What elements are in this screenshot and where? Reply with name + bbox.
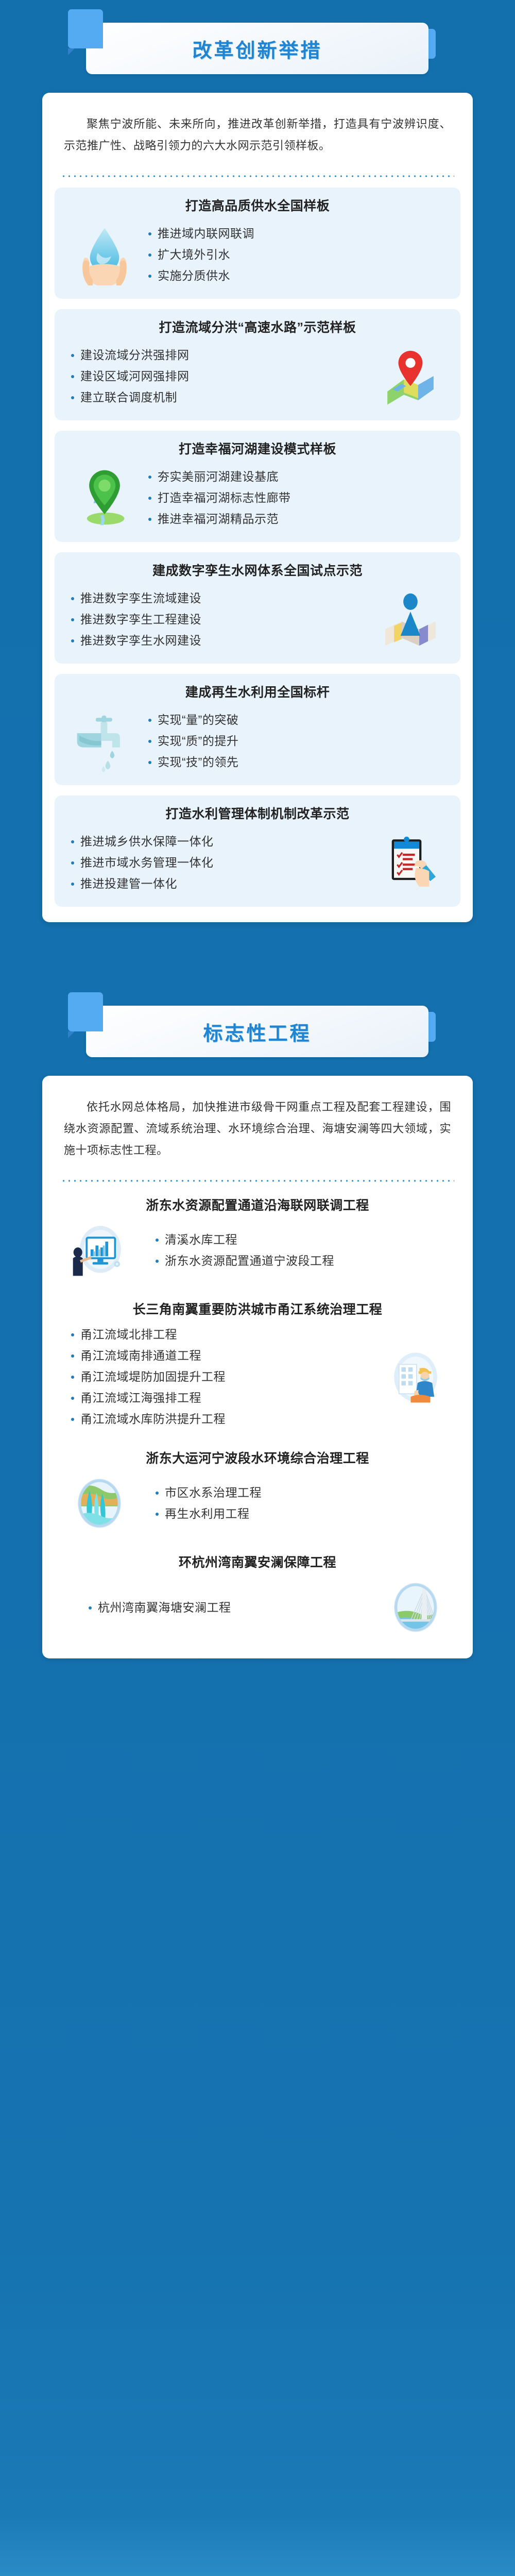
bullet-list: 杭州湾南翼海塘安澜工程 bbox=[66, 1597, 382, 1618]
chart-presenter-icon bbox=[66, 1220, 133, 1281]
bullet-list: 实现“量”的突破 实现“质”的提升 实现“技”的领先 bbox=[143, 709, 449, 773]
card-title: 环杭州湾南翼安澜保障工程 bbox=[66, 1553, 449, 1572]
bullet-item: 甬江流域水库防洪提升工程 bbox=[69, 1409, 379, 1430]
section-title: 改革创新举措 bbox=[192, 35, 322, 63]
card-title: 长三角南翼重要防洪城市甬江系统治理工程 bbox=[66, 1300, 449, 1319]
section-intro: 聚焦宁波所能、未来所向，推进改革创新举措，打造具有宁波辨识度、示范推广性、战略引… bbox=[42, 106, 473, 162]
bullet-item: 实现“质”的提升 bbox=[146, 731, 446, 752]
bullet-item: 实现“量”的突破 bbox=[146, 709, 446, 731]
header-card: 改革创新举措 bbox=[86, 23, 428, 74]
card-title: 建成数字孪生水网体系全国试点示范 bbox=[66, 562, 449, 580]
infographic-page: 改革创新举措 聚焦宁波所能、未来所向，推进改革创新举措，打造具有宁波辨识度、示范… bbox=[0, 0, 515, 2576]
measure-card: 建成再生水利用全国标杆 实现“量” bbox=[55, 674, 460, 785]
section-header-reform: 改革创新举措 bbox=[0, 0, 515, 93]
section-title: 标志性工程 bbox=[203, 1018, 311, 1046]
section-panel-reform: 聚焦宁波所能、未来所向，推进改革创新举措，打造具有宁波辨识度、示范推广性、战略引… bbox=[42, 93, 473, 922]
header-tab-decoration bbox=[68, 9, 103, 48]
bullet-item: 市区水系治理工程 bbox=[153, 1482, 446, 1503]
bullet-item: 甬江流域堤防加固提升工程 bbox=[69, 1366, 379, 1387]
measure-card: 打造幸福河湖建设模式样板 夯实美丽河湖建设基底 打造幸福河湖标志性 bbox=[55, 431, 460, 542]
bullet-item: 甬江流域江海强排工程 bbox=[69, 1387, 379, 1409]
map-pin-green-icon bbox=[66, 464, 143, 532]
bullet-item: 实现“技”的领先 bbox=[146, 752, 446, 773]
bullet-list: 推进数字孪生流域建设 推进数字孪生工程建设 推进数字孪生水网建设 bbox=[66, 588, 372, 651]
section-panel-landmark: 依托水网总体格局，加快推进市级骨干网重点工程及配套工程建设，围绕水资源配置、流域… bbox=[42, 1076, 473, 1658]
bullet-item: 推进城乡供水保障一体化 bbox=[69, 831, 369, 852]
bullet-list: 市区水系治理工程 再生水利用工程 bbox=[133, 1482, 449, 1524]
bullet-item: 推进市域水务管理一体化 bbox=[69, 852, 369, 873]
measure-card: 打造流域分洪“高速水路”示范样板 建设流域分洪强排网 建设区域河网强排网 bbox=[55, 309, 460, 420]
person-map-icon bbox=[372, 585, 449, 653]
bullet-item: 杭州湾南翼海塘安澜工程 bbox=[87, 1597, 379, 1618]
bullet-item: 再生水利用工程 bbox=[153, 1503, 446, 1524]
header-tab-decoration bbox=[68, 992, 103, 1031]
faucet-icon bbox=[66, 707, 143, 775]
bullet-list: 推进域内联网联调 扩大境外引水 实施分质供水 bbox=[143, 223, 449, 286]
card-title: 浙东大运河宁波段水环境综合治理工程 bbox=[66, 1449, 449, 1468]
bullet-item: 甬江流域南排通道工程 bbox=[69, 1345, 379, 1366]
bridge-icon bbox=[382, 1577, 449, 1638]
bullet-list: 推进城乡供水保障一体化 推进市域水务管理一体化 推进投建管一体化 bbox=[66, 831, 372, 894]
bullet-item: 推进幸福河湖精品示范 bbox=[146, 509, 446, 530]
bullet-item: 建设流域分洪强排网 bbox=[69, 345, 369, 366]
section-spacer bbox=[0, 922, 515, 983]
card-title: 打造幸福河湖建设模式样板 bbox=[66, 440, 449, 459]
bullet-item: 推进域内联网联调 bbox=[146, 223, 446, 244]
header-card: 标志性工程 bbox=[86, 1006, 428, 1057]
bullet-item: 推进数字孪生工程建设 bbox=[69, 609, 369, 630]
map-pin-red-icon bbox=[372, 342, 449, 410]
bullet-item: 建立联合调度机制 bbox=[69, 387, 369, 408]
card-title: 打造流域分洪“高速水路”示范样板 bbox=[66, 318, 449, 337]
engineer-building-icon bbox=[382, 1347, 449, 1408]
bullet-list: 建设流域分洪强排网 建设区域河网强排网 建立联合调度机制 bbox=[66, 345, 372, 408]
bullet-item: 清溪水库工程 bbox=[153, 1229, 446, 1250]
hand-water-drop-icon bbox=[66, 221, 143, 289]
bullet-item: 实施分质供水 bbox=[146, 265, 446, 286]
measure-card: 打造高品质供水全国样板 推进域内联网联调 扩大境外引水 bbox=[55, 188, 460, 299]
bullet-item: 甬江流域北排工程 bbox=[69, 1324, 379, 1345]
measure-card: 建成数字孪生水网体系全国试点示范 推进数字孪生流域建设 推进数字孪 bbox=[55, 552, 460, 664]
card-title: 打造水利管理体制机制改革示范 bbox=[66, 805, 449, 823]
dotted-divider bbox=[61, 175, 454, 177]
bullet-item: 建设区域河网强排网 bbox=[69, 366, 369, 387]
bullet-item: 推进数字孪生水网建设 bbox=[69, 630, 369, 651]
bullet-item: 浙东水资源配置通道宁波段工程 bbox=[153, 1250, 446, 1272]
project-card: 环杭州湾南翼安澜保障工程 bbox=[55, 1550, 460, 1643]
clipboard-check-icon bbox=[372, 828, 449, 896]
bullet-list: 甬江流域北排工程 甬江流域南排通道工程 甬江流域堤防加固提升工程 甬江流域江海强… bbox=[66, 1324, 382, 1430]
section-header-landmark: 标志性工程 bbox=[0, 983, 515, 1076]
bullet-item: 扩大境外引水 bbox=[146, 244, 446, 265]
bullet-list: 清溪水库工程 浙东水资源配置通道宁波段工程 bbox=[133, 1229, 449, 1272]
measure-card: 打造水利管理体制机制改革示范 bbox=[55, 795, 460, 907]
card-title: 浙东水资源配置通道沿海联网联调工程 bbox=[66, 1196, 449, 1215]
bullet-item: 推进投建管一体化 bbox=[69, 873, 369, 894]
project-card: 浙东大运河宁波段水环境综合治理工程 bbox=[55, 1446, 460, 1539]
bottom-spacer bbox=[0, 1658, 515, 1689]
card-title: 建成再生水利用全国标杆 bbox=[66, 683, 449, 702]
bullet-item: 推进数字孪生流域建设 bbox=[69, 588, 369, 609]
bullet-list: 夯实美丽河湖建设基底 打造幸福河湖标志性廊带 推进幸福河湖精品示范 bbox=[143, 466, 449, 530]
dotted-divider bbox=[61, 1180, 454, 1182]
bullet-item: 夯实美丽河湖建设基底 bbox=[146, 466, 446, 487]
project-card: 浙东水资源配置通道沿海联网联调工程 bbox=[55, 1193, 460, 1286]
project-card: 长三角南翼重要防洪城市甬江系统治理工程 bbox=[55, 1297, 460, 1435]
card-title: 打造高品质供水全国样板 bbox=[66, 197, 449, 215]
river-landscape-icon bbox=[66, 1473, 133, 1534]
bullet-item: 打造幸福河湖标志性廊带 bbox=[146, 487, 446, 509]
section-intro: 依托水网总体格局，加快推进市级骨干网重点工程及配套工程建设，围绕水资源配置、流域… bbox=[42, 1089, 473, 1166]
